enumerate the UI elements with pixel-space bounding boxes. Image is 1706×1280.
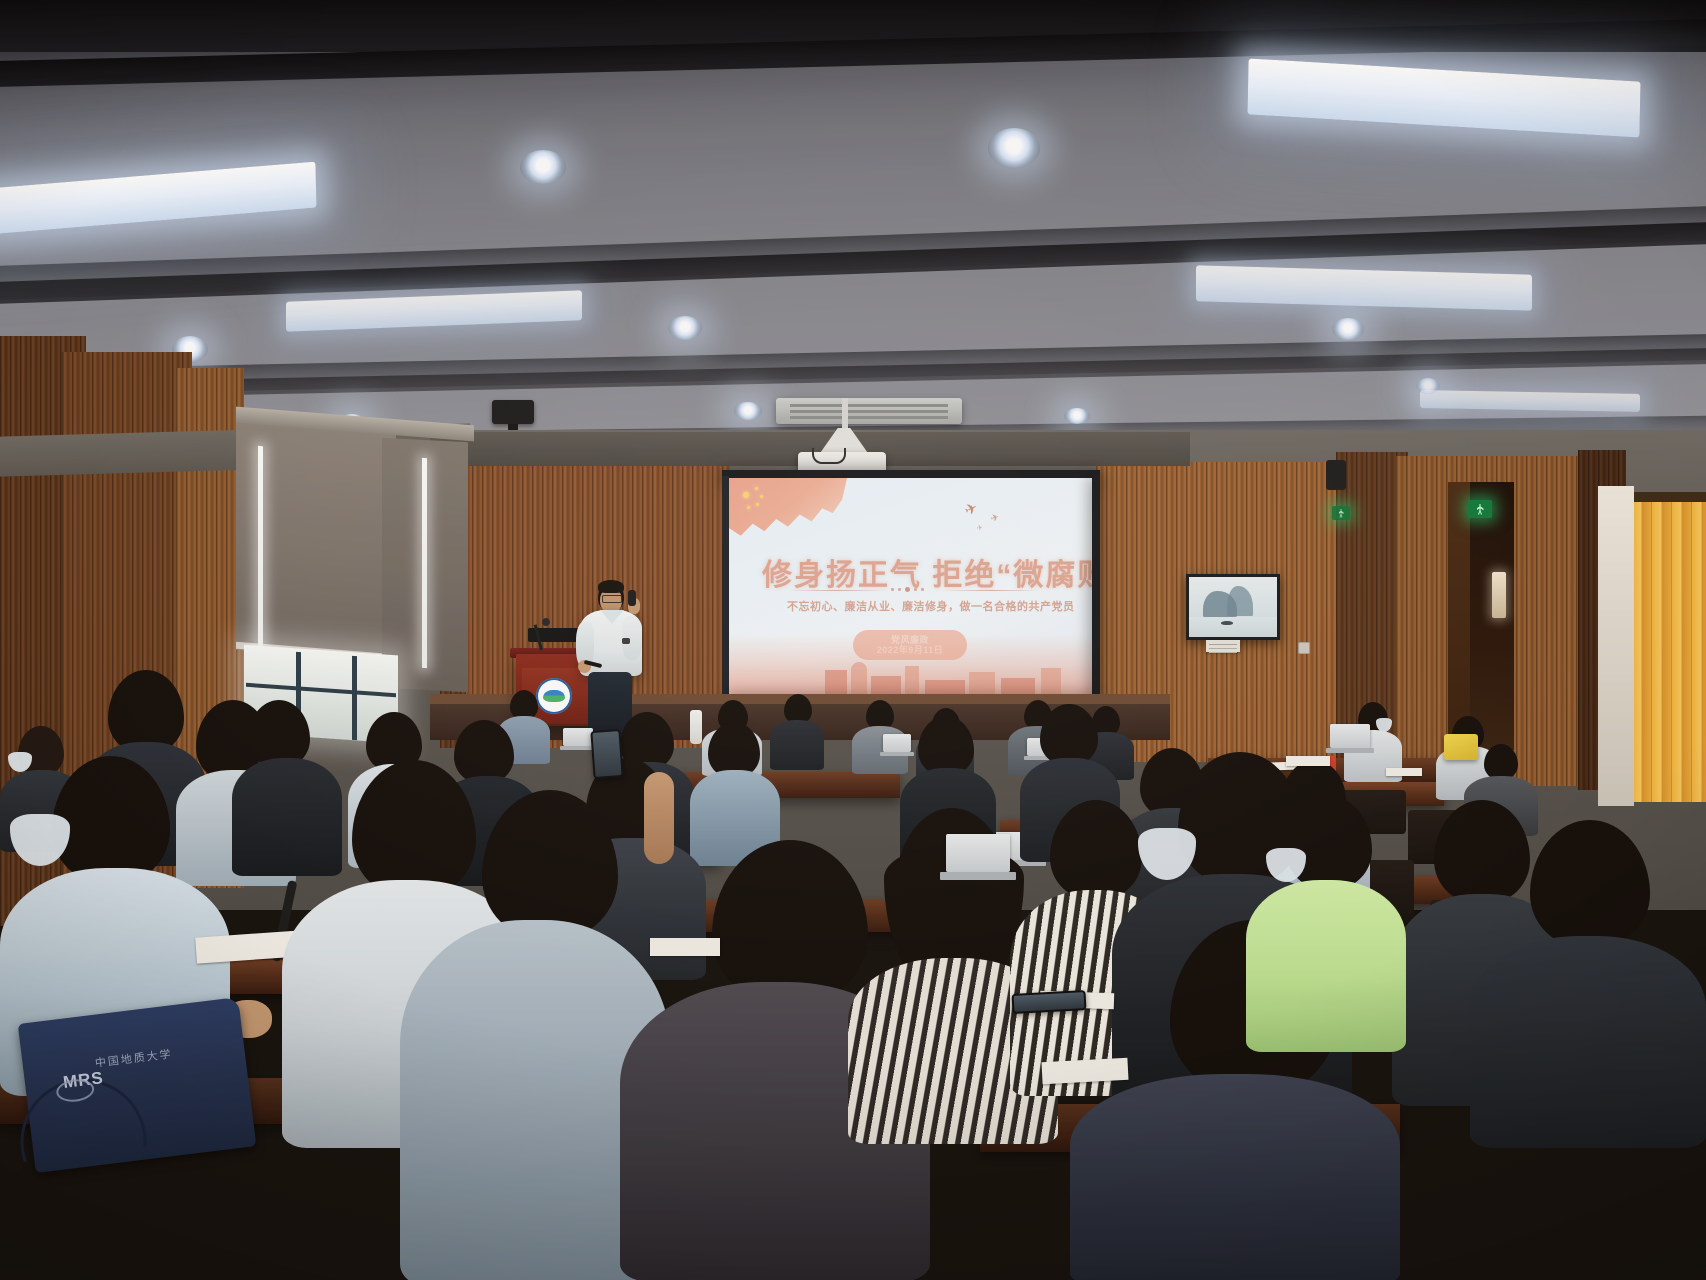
head [482,790,618,940]
head [1530,820,1650,948]
lecture-hall-photo: ✈ ✈ ✈ 修身扬正气 拒绝“微腐败” 不忘初心、廉洁从业、廉洁修身，做一名合格… [0,0,1706,1280]
slide-subtitle: 不忘初心、廉洁从业、廉洁修身，做一名合格的共产党员 [787,598,1075,614]
laptop-6[interactable] [940,834,1016,884]
bag-org-text: 中国地质大学 [94,1046,173,1071]
slide-flag-graphic [729,478,847,554]
exit-sign-icon-secondary [1332,506,1350,520]
blind-light-gap-2 [422,458,427,668]
slide-rule-right [941,590,1041,591]
notepaper-5 [1286,756,1330,766]
slide-star-4 [756,503,759,506]
slide-building-3 [871,676,901,696]
body [1070,1074,1400,1280]
head [712,840,868,1004]
picture-artwork [1189,577,1277,637]
body [1470,936,1706,1148]
presenter-glasses [602,595,622,603]
downlight-2 [520,150,566,184]
ac-louvers [790,404,948,407]
slide-star-5 [747,506,750,509]
microphone-head [542,618,550,626]
downlight-5 [1332,318,1364,340]
air-conditioner-vent [776,398,962,424]
screen-left-edge [722,476,729,698]
yellow-folder[interactable] [1444,734,1478,760]
vertical-blind-yellow[interactable] [1632,502,1706,802]
audience-member-near-10 [1470,820,1706,1140]
slide-title: 修身扬正气 拒绝“微腐败” [762,550,1097,594]
door-light-panel [1492,572,1506,618]
picture-mountain-2 [1227,586,1253,616]
ceiling-panel-light-farright [1420,390,1640,412]
slide-dot-ornament [891,587,924,592]
slide-building-6 [969,672,995,696]
picture-plaque [1206,640,1240,652]
notepaper-4 [650,938,720,956]
exit-sign-icon [1468,500,1492,518]
downlight-4 [668,316,702,340]
slide-bird-1: ✈ [962,500,980,519]
head [1040,704,1098,766]
ceiling-speaker-icon [492,400,534,424]
wall-speaker-right [1326,460,1346,490]
slide-bird-3: ✈ [976,524,983,532]
handheld-microphone [628,590,636,606]
screen-right-edge [1092,474,1100,700]
head [52,756,170,884]
downlight-7 [734,402,762,420]
slide-rule-left [787,590,887,591]
slide-star-1 [743,492,749,498]
head [1484,744,1518,780]
framed-landscape-picture [1186,574,1280,640]
downlight-8 [1064,408,1090,424]
projector-cable [812,448,846,464]
head [918,716,974,776]
slide-building-4 [905,666,919,696]
body [1246,880,1406,1052]
audience-member-green-shirt [1246,796,1406,1046]
backpack-bag[interactable]: MRS 中国地质大学 [18,997,257,1173]
slide-star-3 [760,495,763,498]
presenter-watch [622,638,630,644]
slide-building-1 [825,670,847,696]
window-reveal-right [1598,486,1634,806]
door-leaf[interactable] [1448,482,1470,750]
slide-bird-2: ✈ [990,513,1001,525]
smartphone[interactable] [590,729,623,779]
slide-building-2 [851,662,867,696]
smartphone-on-desk[interactable] [1012,990,1087,1014]
slide-star-2 [755,487,758,490]
presenter-hair [598,580,624,593]
projection-screen: ✈ ✈ ✈ 修身扬正气 拒绝“微腐败” 不忘初心、廉洁从业、廉洁修身，做一名合格… [729,478,1097,696]
downlight-9 [1416,378,1440,394]
picture-boat [1221,621,1233,625]
blind-light-gap-1 [258,446,263,676]
notepaper-2 [1041,1058,1128,1084]
paper-2 [1386,768,1422,776]
downlight-1 [988,128,1040,168]
wall-outlet [1298,642,1310,654]
picture-water [1189,617,1277,637]
slide-building-8 [1041,668,1061,696]
face-mask [1138,828,1196,880]
